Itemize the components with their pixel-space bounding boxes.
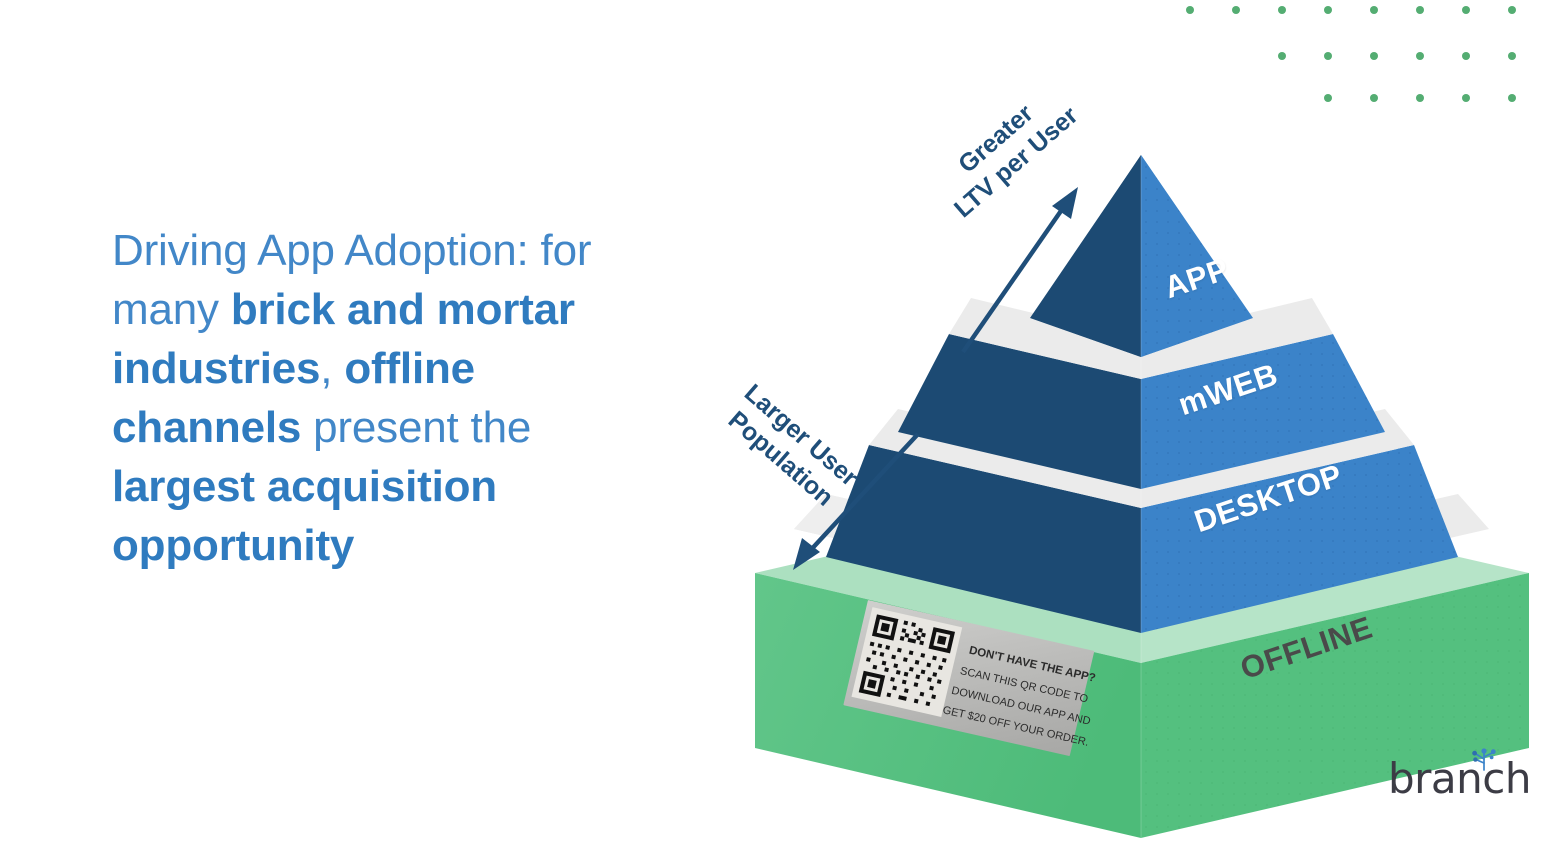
branch-logo: branch [1388, 752, 1508, 804]
slide-canvas: Driving App Adoption: for many brick and… [0, 0, 1544, 852]
branch-sprout-icon [1469, 746, 1499, 772]
branch-logo-wordmark: branch [1388, 754, 1531, 803]
